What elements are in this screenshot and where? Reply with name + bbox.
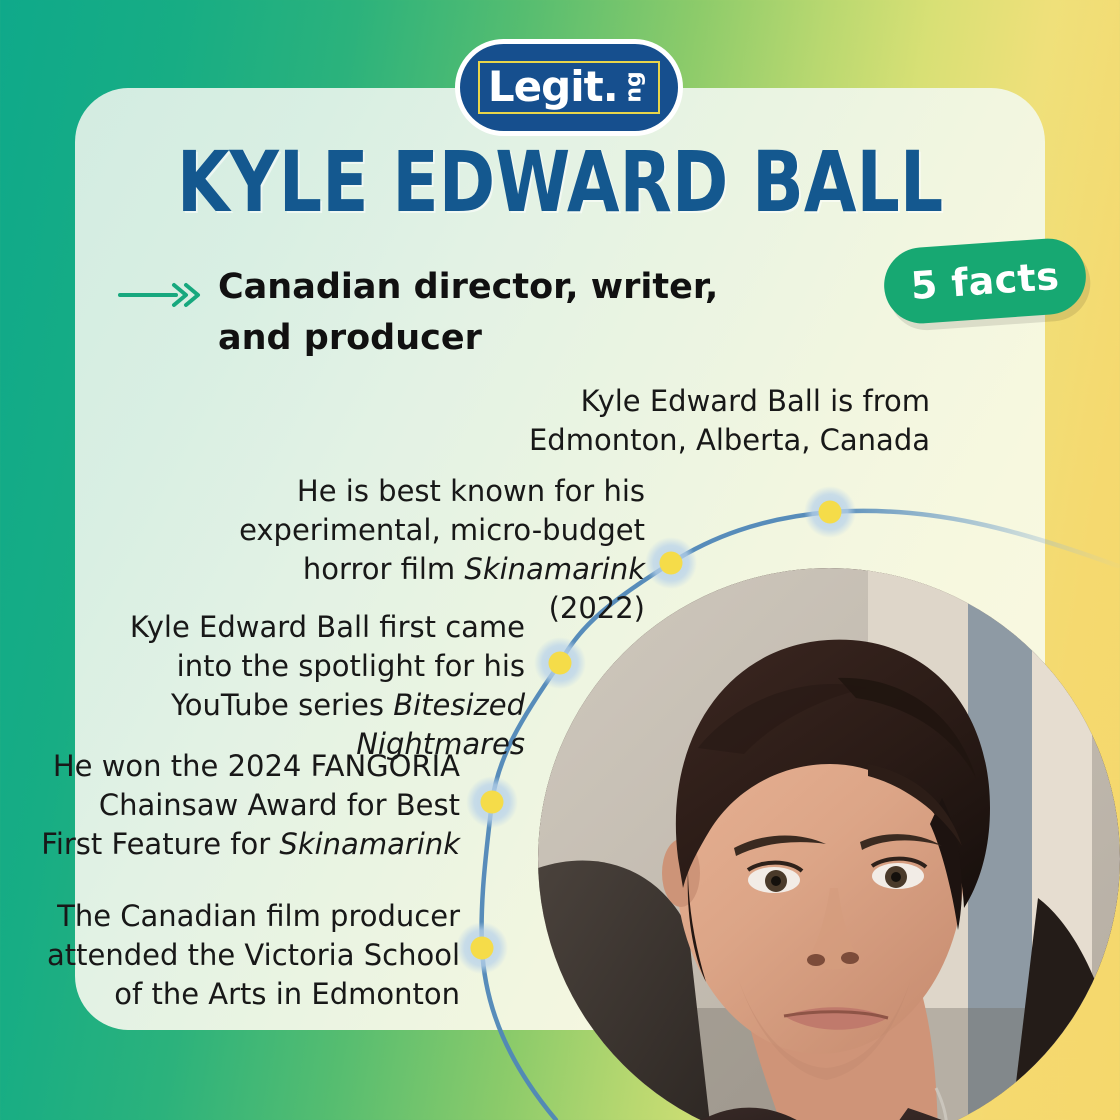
logo-wordmark: Legit.: [488, 66, 618, 108]
arrow-right-icon: [118, 282, 204, 313]
fact-item-3: Kyle Edward Ball first came into the spo…: [80, 608, 525, 765]
legit-logo[interactable]: Legit. ng: [455, 39, 683, 136]
fact-item-4: He won the 2024 FANGORIA Chainsaw Award …: [40, 747, 460, 864]
fact-item-5: The Canadian film producer attended the …: [10, 897, 460, 1014]
subtitle-row: Canadian director, writer, and producer: [118, 262, 818, 364]
fact-item-2: He is best known for his experimental, m…: [200, 472, 645, 629]
page-title: KYLE EDWARD BALL: [56, 140, 1064, 224]
logo-inner-box: Legit. ng: [478, 61, 660, 114]
facts-count-badge: 5 facts: [882, 236, 1089, 326]
logo-tld-ng: ng: [623, 71, 645, 102]
fact-item-1: Kyle Edward Ball is from Edmonton, Alber…: [490, 382, 930, 460]
facts-count-label: 5 facts: [909, 254, 1060, 308]
subtitle-text: Canadian director, writer, and producer: [218, 262, 798, 364]
portrait-photo: [538, 568, 1120, 1120]
